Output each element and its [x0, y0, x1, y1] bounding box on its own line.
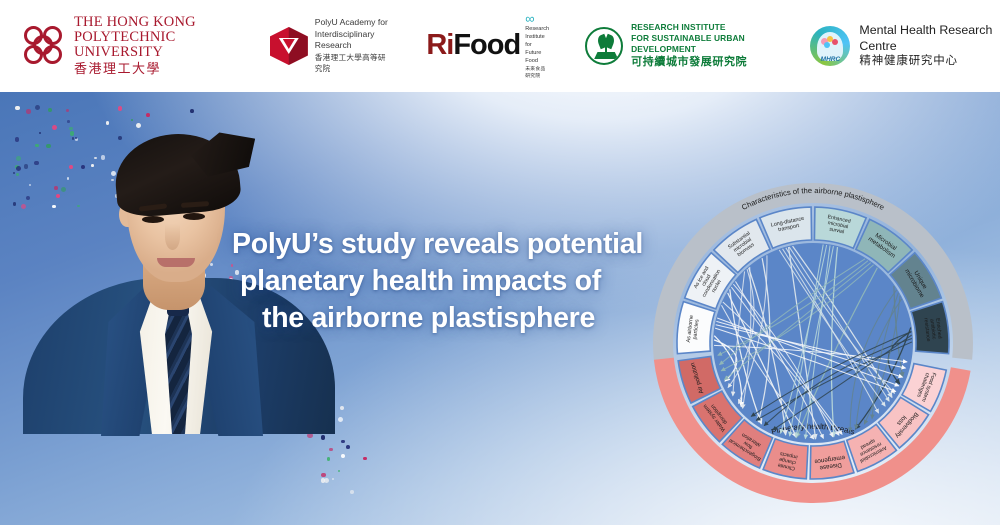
polyu-knot-icon [22, 24, 66, 68]
rifood-food-text: Food [453, 29, 520, 61]
pair-name-line2: Interdisciplinary Research [315, 29, 393, 52]
mhrc-head-brain-icon: MHRC [810, 26, 850, 66]
polyu-name-line1: THE HONG KONG [74, 15, 232, 30]
risud-name-line1: RESEARCH INSTITUTE [631, 22, 778, 33]
rifood-name-line2: for Future Food [525, 41, 549, 65]
headline-line-2: planetary health impacts of [232, 263, 662, 300]
mental-health-research-centre-logo: MHRC Mental Health Research Centre 精神健康研… [810, 22, 1000, 70]
polyu-name-chinese: 香港理工大學 [74, 61, 232, 77]
mhrc-abbr-text: MHRC [810, 56, 850, 63]
partner-logo-bar: THE HONG KONG POLYTECHNIC UNIVERSITY 香港理… [0, 0, 1000, 92]
polyu-name-line2: POLYTECHNIC UNIVERSITY [74, 30, 232, 60]
headline-line-1: PolyU’s study reveals potential [232, 226, 662, 263]
risud-name-line2: FOR SUSTAINABLE URBAN DEVELOPMENT [631, 33, 778, 55]
chord-segment-label: Enrichedantibioticresistance [922, 316, 942, 342]
rifood-logo: RiFood ∞ Research Institute for Future F… [426, 13, 549, 79]
page-title: PolyU’s study reveals potential planetar… [232, 226, 662, 337]
risud-abbr-text: risud [587, 55, 623, 61]
mhrc-name-line1: Mental Health Research Centre [859, 22, 1000, 54]
rifood-name-chinese: 未來食品研究院 [525, 65, 549, 79]
poster-canvas: THE HONG KONG POLYTECHNIC UNIVERSITY 香港理… [0, 0, 1000, 525]
pair-hexagon-icon [270, 27, 308, 65]
chord-diagram-svg: Characteristics of the airborne plastisp… [648, 178, 978, 508]
mhrc-name-chinese: 精神健康研究中心 [859, 54, 1000, 70]
polyu-academy-for-interdisciplinary-research-logo: PolyU Academy for Interdisciplinary Rese… [270, 17, 393, 75]
rifood-name-line1: Research Institute [525, 25, 549, 41]
pair-name-chinese: 香港理工大學高等研究院 [315, 52, 393, 75]
risud-name-chinese: 可持續城市發展研究院 [631, 55, 778, 70]
hong-kong-polytechnic-university-logo: THE HONG KONG POLYTECHNIC UNIVERSITY 香港理… [22, 15, 232, 77]
headline-line-3: the airborne plastisphere [232, 300, 662, 337]
research-institute-for-sustainable-urban-development-logo: risud RESEARCH INSTITUTE FOR SUSTAINABLE… [585, 22, 778, 70]
risud-plant-icon: risud [585, 27, 623, 65]
pair-name-line1: PolyU Academy for [315, 17, 393, 29]
chord-diagram: Characteristics of the airborne plastisp… [648, 178, 978, 508]
rifood-wordmark: RiFood [426, 31, 520, 60]
rifood-ri-text: Ri [426, 29, 453, 61]
infinity-icon: ∞ [525, 13, 549, 25]
